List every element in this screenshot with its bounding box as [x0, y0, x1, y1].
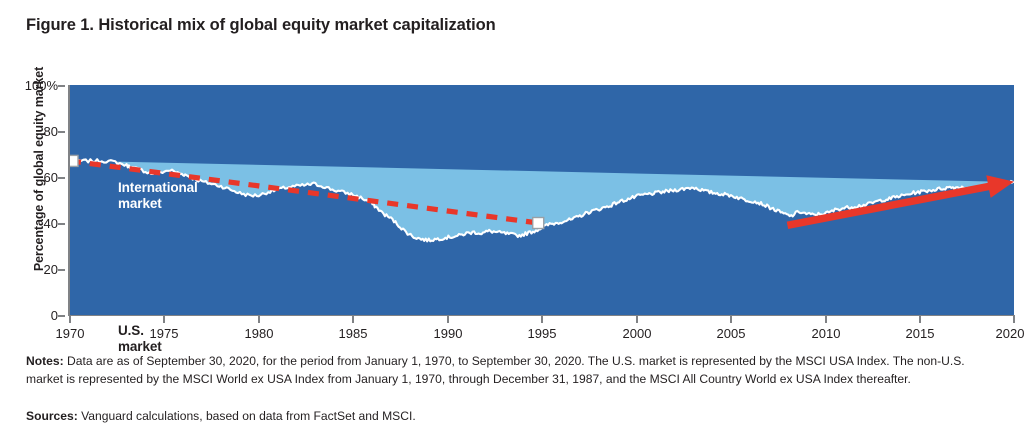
series-label-international: International market [118, 180, 198, 213]
sources-block: Sources: Vanguard calculations, based on… [26, 407, 1001, 425]
y-tick-mark-80 [58, 131, 65, 133]
notes-label: Notes: [26, 354, 64, 368]
chart-container: Percentage of global equity market 100% … [0, 70, 1024, 335]
trend-end-marker [533, 218, 544, 229]
x-tick-mark-1975 [163, 316, 165, 323]
x-tick-label-1970: 1970 [40, 326, 100, 341]
y-tick-mark-40 [58, 223, 65, 225]
page-title: Figure 1. Historical mix of global equit… [26, 16, 496, 35]
x-tick-label-2020: 2020 [980, 326, 1024, 341]
y-tick-label-60: 60 [12, 170, 58, 185]
x-tick-mark-1985 [352, 316, 354, 323]
x-tick-label-1985: 1985 [323, 326, 383, 341]
plot-area [70, 85, 1014, 315]
figure-page: Figure 1. Historical mix of global equit… [0, 0, 1024, 446]
sources-label: Sources: [26, 409, 78, 423]
x-tick-label-2010: 2010 [796, 326, 856, 341]
y-tick-label-40: 40 [12, 216, 58, 231]
x-tick-mark-2015 [919, 316, 921, 323]
trend-start-marker [70, 155, 78, 166]
x-tick-mark-2005 [730, 316, 732, 323]
y-tick-label-80: 80 [12, 124, 58, 139]
notes-text: Data are as of September 30, 2020, for t… [26, 354, 965, 386]
x-tick-mark-2000 [636, 316, 638, 323]
y-tick-mark-0 [58, 315, 65, 317]
x-tick-label-1980: 1980 [229, 326, 289, 341]
x-tick-mark-1980 [258, 316, 260, 323]
x-tick-label-2015: 2015 [890, 326, 950, 341]
notes-block: Notes: Data are as of September 30, 2020… [26, 352, 1001, 389]
y-tick-mark-20 [58, 269, 65, 271]
x-tick-mark-1970 [69, 316, 71, 323]
x-tick-label-1990: 1990 [418, 326, 478, 341]
x-tick-label-2000: 2000 [607, 326, 667, 341]
y-tick-label-20: 20 [12, 262, 58, 277]
x-tick-label-2005: 2005 [701, 326, 761, 341]
x-tick-mark-1990 [447, 316, 449, 323]
y-tick-mark-60 [58, 177, 65, 179]
x-tick-label-1975: 1975 [134, 326, 194, 341]
y-tick-mark-100 [58, 85, 65, 87]
x-tick-label-1995: 1995 [512, 326, 572, 341]
stacked-area-chart [70, 85, 1014, 315]
x-tick-mark-1995 [541, 316, 543, 323]
x-tick-mark-2020 [1013, 316, 1015, 323]
sources-text: Vanguard calculations, based on data fro… [78, 409, 416, 423]
y-axis-ticks: 100% 80 60 40 20 0 [8, 70, 58, 315]
x-tick-mark-2010 [825, 316, 827, 323]
y-tick-label-0: 0 [12, 308, 58, 323]
y-tick-label-100: 100% [12, 78, 58, 93]
